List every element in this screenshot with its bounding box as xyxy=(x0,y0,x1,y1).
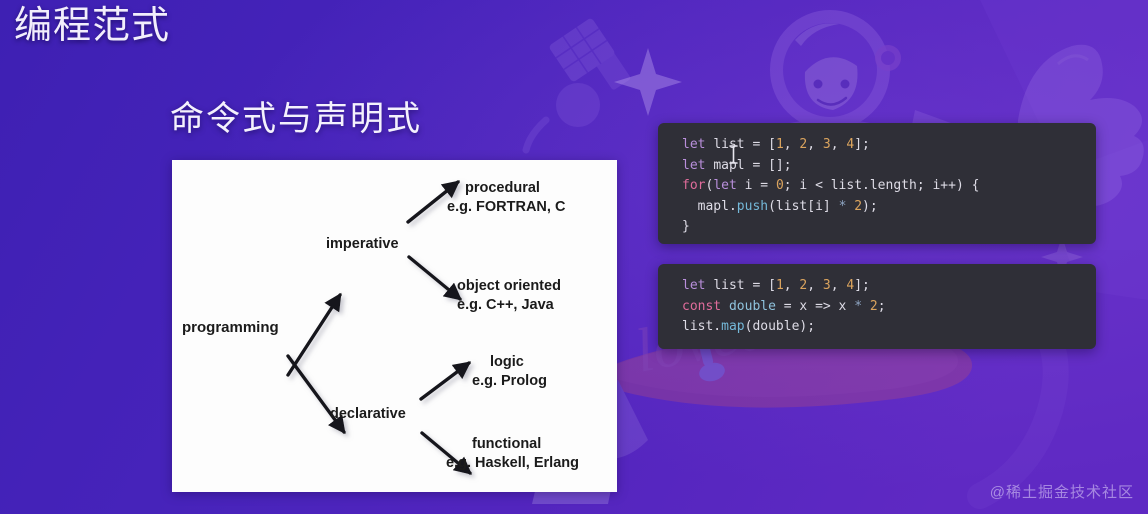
section-subtitle: 命令式与声明式 xyxy=(170,96,422,142)
slide-root: loved xyxy=(0,0,1148,514)
diagram-leaf-logic: logic xyxy=(490,354,524,370)
diagram-leaf-object-oriented: object oriented xyxy=(457,278,561,294)
diagram-leaf-object-oriented-examples: e.g. C++, Java xyxy=(457,297,555,313)
code-line: let list = [1, 2, 3, 4]; xyxy=(682,137,870,152)
page-title: 编程范式 xyxy=(14,2,170,50)
code-line: let list = [1, 2, 3, 4]; xyxy=(682,278,870,293)
code-line: let mapl = []; xyxy=(682,158,792,173)
code-line: list.map(double); xyxy=(682,319,815,334)
code-block-declarative[interactable]: let list = [1, 2, 3, 4]; const double = … xyxy=(658,264,1096,349)
diagram-leaf-functional: functional xyxy=(472,436,541,452)
code-block-imperative[interactable]: let list = [1, 2, 3, 4]; let mapl = []; … xyxy=(658,123,1096,244)
watermark: @稀土掘金技术社区 xyxy=(990,481,1134,502)
diagram-leaf-logic-examples: e.g. Prolog xyxy=(472,373,547,389)
diagram-node-imperative: imperative xyxy=(326,236,399,252)
code-line: for(let i = 0; i < list.length; i++) { xyxy=(682,178,979,193)
code-line: mapl.push(list[i] * 2); xyxy=(682,199,878,214)
diagram-leaf-procedural: procedural xyxy=(465,180,540,196)
diagram-leaf-procedural-examples: e.g. FORTRAN, C xyxy=(447,199,566,215)
diagram-node-programming: programming xyxy=(182,319,279,336)
diagram-leaf-functional-examples: e.g. Haskell, Erlang xyxy=(446,455,579,471)
paradigm-diagram-card: programming imperative declarative proce… xyxy=(172,160,617,492)
code-line: } xyxy=(682,219,690,234)
code-line: const double = x => x * 2; xyxy=(682,299,886,314)
diagram-node-declarative: declarative xyxy=(330,406,406,422)
